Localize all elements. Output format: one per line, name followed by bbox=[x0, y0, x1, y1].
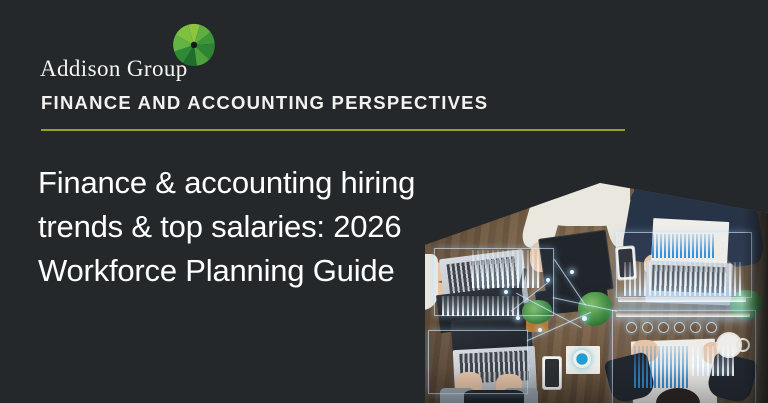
hud-glow-bar-topright bbox=[618, 296, 746, 302]
plant-small bbox=[522, 300, 552, 324]
tablet-device bbox=[538, 230, 614, 299]
person-bottomleft-hand-right bbox=[496, 374, 522, 396]
person-right-sleeve-left bbox=[620, 189, 670, 265]
person-right-sleeve-right bbox=[714, 187, 767, 269]
teal-circle-graphic bbox=[573, 350, 591, 368]
brand-wordmark: Addison Group bbox=[40, 56, 188, 82]
hud-bars-blue-bottomright bbox=[634, 346, 690, 388]
report-paper-topright bbox=[651, 218, 730, 272]
eyebrow-label: FINANCE AND ACCOUNTING PERSPECTIVES bbox=[41, 92, 488, 114]
page-title: Finance & accounting hiring trends & top… bbox=[38, 161, 458, 293]
hud-connector-1 bbox=[516, 293, 582, 329]
hud-node-2 bbox=[546, 278, 550, 282]
smartphone-bottom bbox=[542, 356, 562, 390]
hud-connector-2 bbox=[527, 312, 591, 341]
hud-glow-bar-center bbox=[616, 312, 750, 317]
laptop-bottomleft-screen bbox=[451, 315, 534, 364]
person-right-hand-left bbox=[644, 254, 672, 276]
wooden-desk-surface bbox=[420, 150, 768, 403]
mug-handle bbox=[736, 338, 750, 352]
person-bottomright-hand-right bbox=[702, 342, 728, 364]
smartphone-top-screen bbox=[618, 249, 634, 278]
person-bottomleft-hand-left bbox=[456, 372, 482, 396]
hud-node-1 bbox=[504, 290, 508, 294]
hud-icon-6 bbox=[706, 322, 717, 333]
laptop-bottomleft bbox=[453, 346, 538, 400]
coffee-mug bbox=[716, 332, 742, 358]
laptop-bottomleft-keyboard bbox=[459, 350, 530, 384]
hud-icon-4 bbox=[674, 322, 685, 333]
photo-edge-vignette bbox=[420, 150, 768, 403]
hud-icon-2 bbox=[642, 322, 653, 333]
notebook-dark bbox=[535, 284, 609, 315]
person-bottomright-hair bbox=[656, 388, 700, 403]
hud-connector-3 bbox=[554, 259, 586, 306]
person-top-hand-right bbox=[566, 244, 592, 270]
hud-icon-3 bbox=[658, 322, 669, 333]
chart-report-bottomright bbox=[631, 339, 717, 403]
team-working-photo bbox=[420, 150, 768, 403]
hud-node-5 bbox=[570, 270, 574, 274]
hud-panel-topright bbox=[616, 232, 752, 298]
hud-icon-1 bbox=[626, 322, 637, 333]
person-top-shirt bbox=[538, 160, 630, 226]
person-bottomleft-torso bbox=[464, 390, 524, 403]
person-bottomright-sleeve-right bbox=[705, 351, 758, 403]
hud-bars-white-bottomright bbox=[692, 346, 734, 376]
note-card-teal bbox=[566, 346, 600, 374]
hud-bars-left bbox=[472, 250, 540, 288]
person-top-hand-left bbox=[530, 242, 554, 272]
hud-connector-5 bbox=[553, 297, 618, 312]
person-top-sleeve-left bbox=[519, 193, 565, 254]
plant-center bbox=[578, 292, 612, 326]
hud-panel-bottomleft bbox=[428, 330, 528, 394]
hud-bars-left-lower bbox=[442, 296, 520, 316]
plant-pot-small bbox=[526, 316, 548, 332]
person-bottomleft-sleeve-right bbox=[504, 388, 538, 403]
desk-lighting-shade bbox=[420, 150, 768, 403]
hud-node-4 bbox=[582, 316, 587, 321]
hud-icon-5 bbox=[690, 322, 701, 333]
person-right-suit bbox=[634, 156, 752, 228]
hud-connector-4 bbox=[511, 281, 549, 311]
person-right-hand-right bbox=[696, 256, 724, 278]
hud-node-3 bbox=[538, 328, 542, 332]
hud-bars-white-topright bbox=[624, 262, 744, 296]
laptop-right bbox=[645, 261, 732, 306]
brand-logo[interactable]: Addison Group bbox=[40, 22, 280, 84]
smartphone-bottom-screen bbox=[545, 359, 559, 387]
stylus-pen bbox=[517, 268, 527, 294]
accent-divider bbox=[41, 129, 625, 131]
smartphone-top bbox=[615, 245, 637, 280]
laptop-right-keyboard bbox=[652, 265, 727, 294]
person-bottomright-hand-left bbox=[632, 340, 658, 362]
person-top-sleeve-right bbox=[599, 193, 642, 251]
person-top-hair bbox=[566, 150, 600, 174]
person-bottomleft-sleeve-left bbox=[440, 388, 474, 403]
person-bottomright-sleeve-left bbox=[603, 351, 656, 403]
marketing-banner: Addison Group FINANCE AND ACCOUNTING PER… bbox=[0, 0, 768, 403]
hud-node-6 bbox=[516, 316, 520, 320]
plant-right bbox=[730, 290, 762, 320]
hud-bars-blue-topright bbox=[652, 234, 714, 258]
hud-panel-bottomright bbox=[612, 310, 756, 403]
